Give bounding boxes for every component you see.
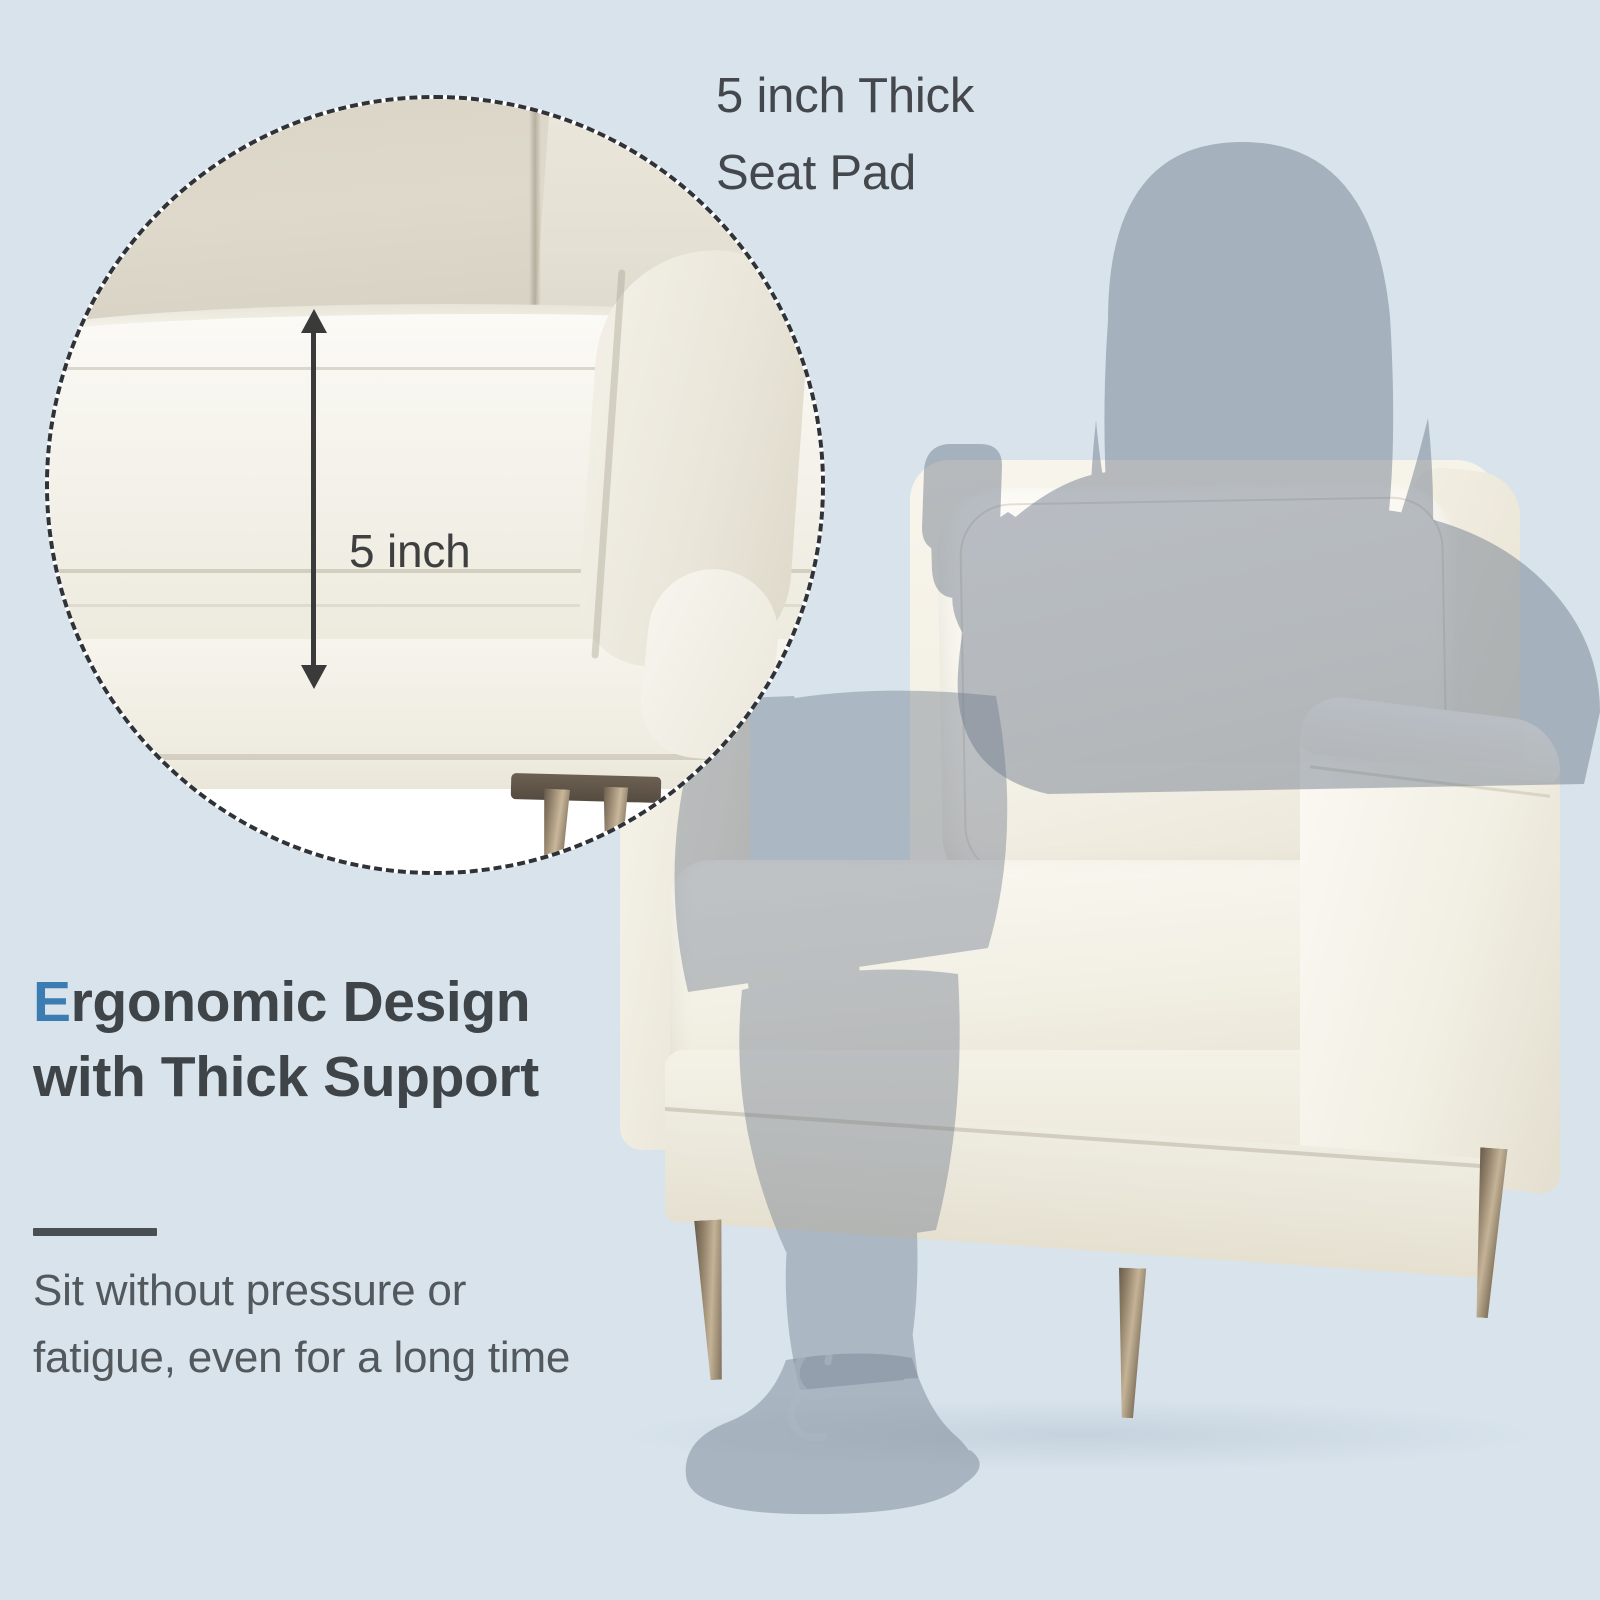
headline-line2: with Thick Support [33, 1040, 653, 1115]
chair-leg-front-left [688, 1219, 736, 1381]
infographic-canvas: 5 inch 5 inch Thick Seat Pad Ergonomic D… [0, 0, 1600, 1600]
arrow-head-down-icon [301, 665, 327, 689]
headline-line1-rest: rgonomic Design [71, 970, 531, 1034]
dimension-line [311, 325, 316, 675]
headline: Ergonomic Design with Thick Support [33, 965, 653, 1115]
magnified-leg-plate [511, 773, 662, 803]
feature-title: 5 inch Thick Seat Pad [716, 58, 1376, 213]
zoom-detail-clip: 5 inch [49, 99, 821, 871]
divider-rule [33, 1228, 157, 1236]
feature-title-line2: Seat Pad [716, 135, 1376, 212]
feature-title-line1: 5 inch Thick [716, 58, 1376, 135]
dimension-label: 5 inch [349, 524, 471, 578]
magnified-white-backdrop [49, 789, 821, 871]
dimension-arrow [297, 309, 329, 689]
body-copy: Sit without pressure or fatigue, even fo… [33, 1258, 613, 1392]
headline-accent-letter: E [33, 970, 71, 1034]
headline-line1: Ergonomic Design [33, 965, 653, 1040]
chair-leg-front-right [1107, 1267, 1152, 1418]
zoom-detail-circle: 5 inch [45, 95, 825, 875]
